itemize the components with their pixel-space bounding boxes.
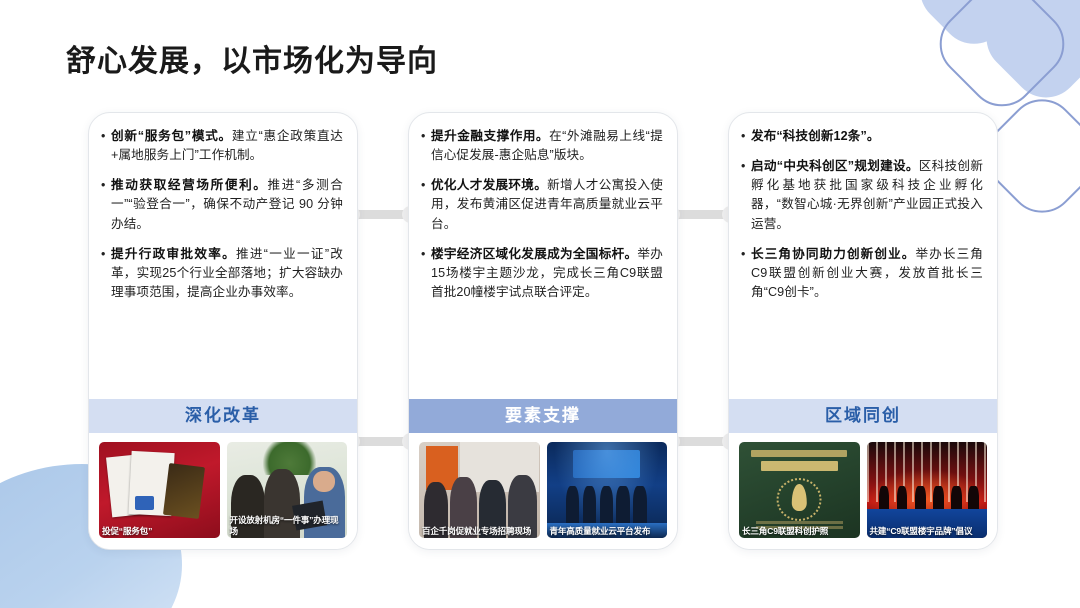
photo-art-stage-icon [547, 442, 668, 538]
band-label-2: 要素支撑 [409, 399, 677, 433]
band-label-1: 深化改革 [89, 399, 357, 433]
list-item: • 楼宇经济区域化发展成为全国标杆。举办15场楼宇主题沙龙，完成长三角C9联盟首… [421, 245, 663, 302]
bullet-dot-icon: • [101, 245, 111, 264]
photo-strip-2: 百企千岗促就业专场招聘现场 青年高质量就业云平台发布 [409, 433, 677, 549]
photo-caption: 开设放射机房“一件事”办理现场 [230, 515, 346, 536]
photo-thumbnail[interactable]: 长三角C9联盟科创护照 [739, 442, 860, 538]
bullet-text: 提升金融支撑作用。在“外滩融易上线“提信心促发展-惠企贴息”版块。 [431, 127, 663, 165]
bullet-list-2: • 提升金融支撑作用。在“外滩融易上线“提信心促发展-惠企贴息”版块。 • 优化… [409, 113, 677, 399]
bullet-text: 创新“服务包”模式。建立“惠企政策直达+属地服务上门”工作机制。 [111, 127, 343, 165]
connector-bottom-2-3 [670, 437, 732, 446]
connector-bottom-1-2 [350, 437, 412, 446]
photo-art-documents-icon [99, 442, 220, 538]
list-item: • 创新“服务包”模式。建立“惠企政策直达+属地服务上门”工作机制。 [101, 127, 343, 165]
bullet-dot-icon: • [741, 245, 751, 264]
column-card-2[interactable]: • 提升金融支撑作用。在“外滩融易上线“提信心促发展-惠企贴息”版块。 • 优化… [408, 112, 678, 550]
bullet-dot-icon: • [101, 127, 111, 146]
list-item: • 提升行政审批效率。推进“一业一证”改革，实现25个行业全部落地；扩大容缺办理… [101, 245, 343, 302]
list-item: • 提升金融支撑作用。在“外滩融易上线“提信心促发展-惠企贴息”版块。 [421, 127, 663, 165]
bullet-list-3: • 发布“科技创新12条”。 • 启动“中央科创区”规划建设。区科技创新孵化基地… [729, 113, 997, 399]
photo-strip-1: 投促“服务包” 开设放射机房“一件事”办理现场 [89, 433, 357, 549]
bullet-list-1: • 创新“服务包”模式。建立“惠企政策直达+属地服务上门”工作机制。 • 推动获… [89, 113, 357, 399]
bullet-dot-icon: • [741, 157, 751, 176]
photo-art-jobfair-icon [419, 442, 540, 538]
column-card-1[interactable]: • 创新“服务包”模式。建立“惠企政策直达+属地服务上门”工作机制。 • 推动获… [88, 112, 358, 550]
photo-caption: 青年高质量就业云平台发布 [550, 526, 666, 536]
photo-caption: 长三角C9联盟科创护照 [742, 526, 858, 536]
column-card-3[interactable]: • 发布“科技创新12条”。 • 启动“中央科创区”规划建设。区科技创新孵化基地… [728, 112, 998, 550]
bullet-text: 优化人才发展环境。新增人才公寓投入使用，发布黄浦区促进青年高质量就业云平台。 [431, 176, 663, 233]
bullet-text: 发布“科技创新12条”。 [751, 127, 983, 146]
slide-canvas: 舒心发展，以市场化为导向 • 创新“服务包”模式。建立“惠企政策直达+属地服务上… [0, 0, 1080, 608]
bullet-text: 提升行政审批效率。推进“一业一证”改革，实现25个行业全部落地；扩大容缺办理事项… [111, 245, 343, 302]
photo-thumbnail[interactable]: 百企千岗促就业专场招聘现场 [419, 442, 540, 538]
photo-caption: 投促“服务包” [102, 526, 218, 536]
bullet-dot-icon: • [421, 245, 431, 264]
bullet-text: 长三角协同助力创新创业。举办长三角C9联盟创新创业大赛，发放首批长三角“C9创卡… [751, 245, 983, 302]
page-title: 舒心发展，以市场化为导向 [66, 36, 438, 80]
photo-strip-3: 长三角C9联盟科创护照 共建“C9联盟楼宇品牌”倡议 [729, 433, 997, 549]
list-item: • 推动获取经营场所便利。推进“多测合一”“验登合一”，确保不动产登记 90 分… [101, 176, 343, 233]
list-item: • 长三角协同助力创新创业。举办长三角C9联盟创新创业大赛，发放首批长三角“C9… [741, 245, 983, 302]
connector-top-2-3 [670, 210, 732, 219]
bullet-dot-icon: • [421, 127, 431, 146]
photo-thumbnail[interactable]: 共建“C9联盟楼宇品牌”倡议 [867, 442, 988, 538]
list-item: • 启动“中央科创区”规划建设。区科技创新孵化基地获批国家级科技企业孵化器，“数… [741, 157, 983, 234]
bullet-text: 推动获取经营场所便利。推进“多测合一”“验登合一”，确保不动产登记 90 分钟办… [111, 176, 343, 233]
bullet-text: 楼宇经济区域化发展成为全国标杆。举办15场楼宇主题沙龙，完成长三角C9联盟首批2… [431, 245, 663, 302]
list-item: • 优化人才发展环境。新增人才公寓投入使用，发布黄浦区促进青年高质量就业云平台。 [421, 176, 663, 233]
photo-caption: 百企千岗促就业专场招聘现场 [422, 526, 538, 536]
photo-thumbnail[interactable]: 开设放射机房“一件事”办理现场 [227, 442, 348, 538]
photo-thumbnail[interactable]: 青年高质量就业云平台发布 [547, 442, 668, 538]
connector-top-1-2 [350, 210, 412, 219]
band-label-3: 区域同创 [729, 399, 997, 433]
photo-caption: 共建“C9联盟楼宇品牌”倡议 [870, 526, 986, 536]
photo-art-ceremony-icon [867, 442, 988, 538]
photo-thumbnail[interactable]: 投促“服务包” [99, 442, 220, 538]
bullet-dot-icon: • [101, 176, 111, 195]
list-item: • 发布“科技创新12条”。 [741, 127, 983, 146]
bullet-dot-icon: • [741, 127, 751, 146]
bullet-text: 启动“中央科创区”规划建设。区科技创新孵化基地获批国家级科技企业孵化器，“数智心… [751, 157, 983, 234]
bullet-dot-icon: • [421, 176, 431, 195]
photo-art-passport-icon [739, 442, 860, 538]
